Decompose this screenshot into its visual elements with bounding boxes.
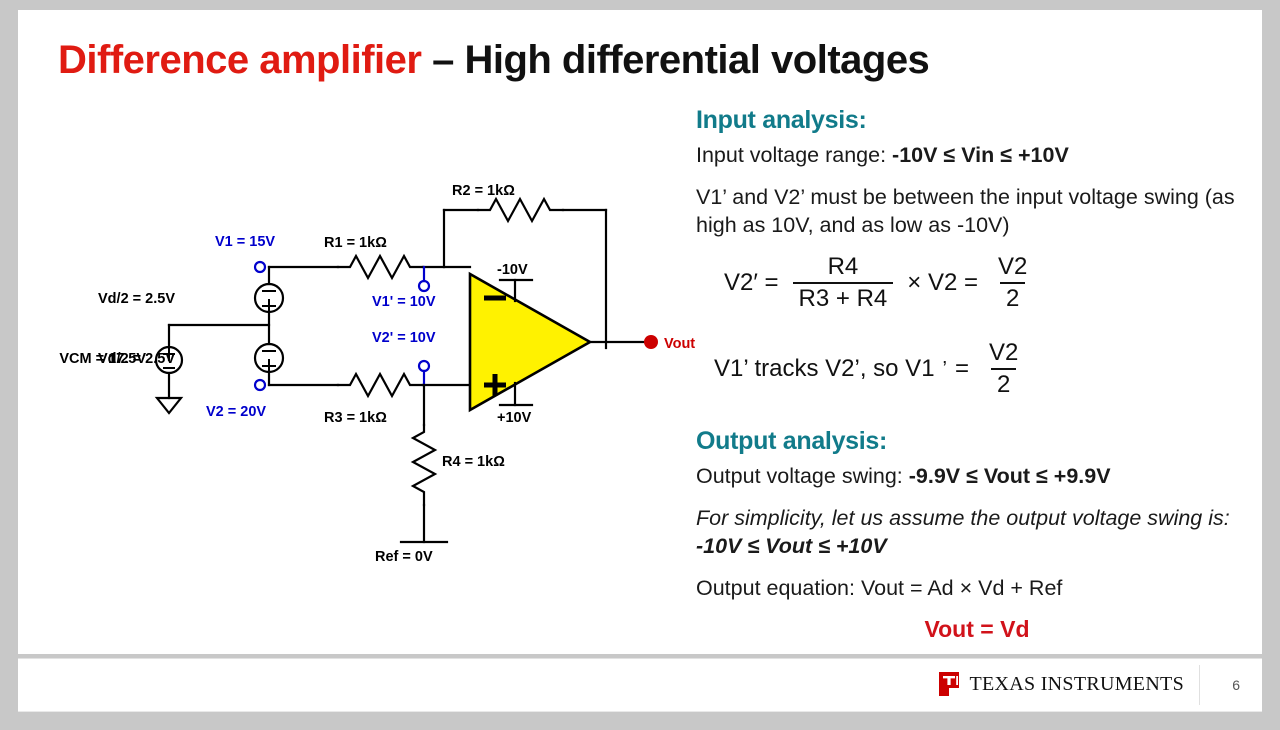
- eq2-lhs: V1’ tracks V2’, so V1: [714, 355, 935, 383]
- vout-probe-dot: [644, 335, 658, 349]
- v2-node-terminal: [255, 380, 265, 390]
- r3-resistor: [338, 374, 423, 396]
- eq1-numerator-2: V2: [992, 253, 1033, 282]
- label-vcm: VCM = 17.5V: [59, 351, 146, 367]
- input-range-prefix: Input voltage range:: [696, 143, 892, 167]
- eq2-equals: =: [955, 355, 969, 383]
- output-swing-prefix: Output voltage swing:: [696, 464, 909, 488]
- output-voltage-swing-line: Output voltage swing: -9.9V ≤ Vout ≤ +9.…: [696, 462, 1258, 490]
- output-result: Vout = Vd: [696, 616, 1258, 643]
- eq1-numerator: R4: [822, 253, 865, 282]
- input-voltage-range-line: Input voltage range: -10V ≤ Vin ≤ +10V: [696, 141, 1258, 169]
- eq2-fraction-v2-over-2: V2 2: [983, 339, 1024, 399]
- ti-flag-icon: [937, 671, 961, 697]
- title-red-part: Difference amplifier: [58, 38, 421, 82]
- label-vd-top: Vd/2 = 2.5V: [98, 291, 175, 307]
- output-swing-value: -9.9V ≤ Vout ≤ +9.9V: [909, 464, 1111, 488]
- eq1-mid: × V2 =: [907, 269, 978, 297]
- simplicity-value: -10V ≤ Vout ≤ +10V: [696, 534, 887, 558]
- v1-prime-node-terminal: [419, 281, 429, 291]
- v1-node-terminal: [255, 262, 265, 272]
- input-analysis-heading: Input analysis:: [696, 106, 1258, 135]
- input-swing-note: V1’ and V2’ must be between the input vo…: [696, 183, 1258, 239]
- r1-resistor: [338, 256, 423, 278]
- analysis-column: Input analysis: Input voltage range: -10…: [696, 106, 1258, 643]
- footer-divider: [1199, 665, 1200, 705]
- label-r4: R4 = 1kΩ: [442, 454, 505, 470]
- page-title: Difference amplifier – High differential…: [58, 38, 929, 83]
- slide-canvas: Difference amplifier – High differential…: [18, 10, 1262, 654]
- label-r1: R1 = 1kΩ: [324, 235, 387, 251]
- v2-prime-node-terminal: [419, 361, 429, 371]
- eq1-fraction-r4-over-r3r4: R4 R3 + R4: [793, 253, 894, 313]
- footer-bar: TEXAS INSTRUMENTS 6: [18, 658, 1262, 712]
- eq1-lhs: V2′ =: [724, 269, 779, 297]
- texas-instruments-logo: TEXAS INSTRUMENTS: [937, 671, 1184, 697]
- output-equation-line: Output equation: Vout = Ad × Vd + Ref: [696, 574, 1258, 602]
- ti-logo-instruments: INSTRUMENTS: [1041, 673, 1184, 695]
- output-simplicity-note: For simplicity, let us assume the output…: [696, 504, 1258, 560]
- title-black-part: High differential voltages: [464, 38, 929, 82]
- label-v2: V2 = 20V: [206, 404, 266, 420]
- label-v2-prime: V2' = 10V: [372, 330, 436, 346]
- eq1-denominator-2: 2: [1000, 282, 1025, 313]
- ti-logo-texas: TEXAS: [969, 673, 1040, 695]
- eq2-prime: ’: [943, 358, 947, 381]
- eq1-fraction-v2-over-2: V2 2: [992, 253, 1033, 313]
- label-vout: Vout = 5V: [664, 336, 698, 352]
- eq2-numerator: V2: [983, 339, 1024, 368]
- input-range-value: -10V ≤ Vin ≤ +10V: [892, 143, 1069, 167]
- label-negative-rail: -10V: [497, 262, 528, 278]
- simplicity-prefix: For simplicity, let us assume the output…: [696, 506, 1230, 530]
- output-analysis-heading: Output analysis:: [696, 427, 1258, 456]
- equation-v1-tracks-v2: V1’ tracks V2’, so V1’ = V2 2: [714, 339, 1258, 399]
- label-r2: R2 = 1kΩ: [452, 183, 515, 199]
- eq1-denominator: R3 + R4: [793, 282, 894, 313]
- r2-resistor: [478, 199, 563, 221]
- label-v1-prime: V1' = 10V: [372, 294, 436, 310]
- circuit-diagram: V1 = 15V V2 = 20V Vd/2 = 2.5V Vd/2 = 2.5…: [38, 170, 698, 590]
- equation-v2-prime: V2′ = R4 R3 + R4 × V2 = V2 2: [724, 253, 1258, 313]
- label-v1: V1 = 15V: [215, 234, 275, 250]
- eq2-denominator: 2: [991, 368, 1016, 399]
- label-positive-rail: +10V: [497, 410, 532, 426]
- label-r3: R3 = 1kΩ: [324, 410, 387, 426]
- ti-logo-text: TEXAS INSTRUMENTS: [969, 673, 1184, 696]
- title-dash: –: [421, 38, 464, 82]
- label-ref: Ref = 0V: [375, 549, 433, 565]
- opamp-body: [470, 274, 590, 410]
- r4-resistor: [413, 425, 435, 505]
- page-number: 6: [1232, 677, 1240, 693]
